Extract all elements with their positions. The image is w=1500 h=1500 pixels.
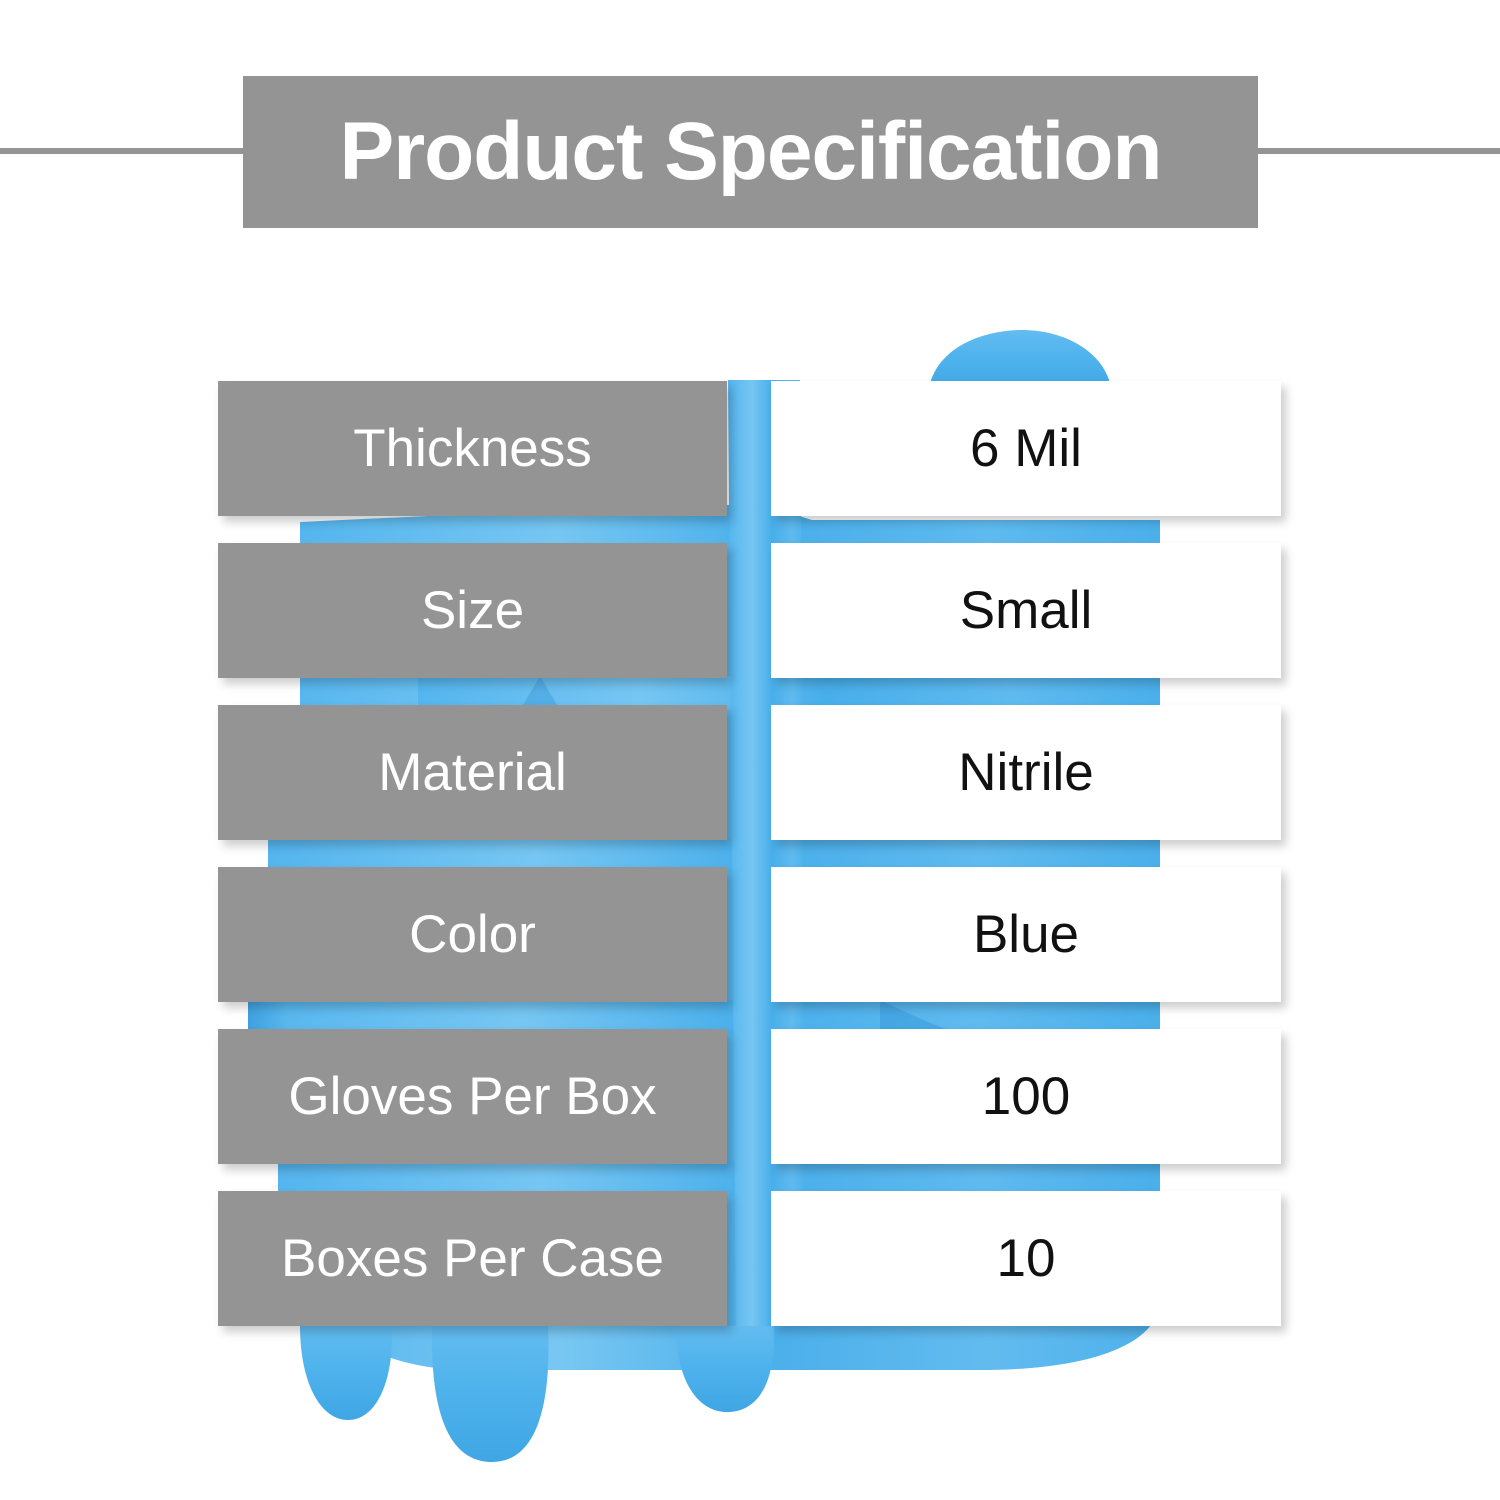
spec-label-cell: Color: [218, 867, 727, 1002]
spec-value-text: Blue: [973, 908, 1079, 961]
spec-value-cell: 100: [771, 1029, 1281, 1164]
spec-label-cell: Size: [218, 543, 727, 678]
spec-value-cell: 6 Mil: [771, 381, 1281, 516]
spec-value-text: Small: [960, 584, 1093, 637]
spec-label-text: Material: [378, 746, 567, 799]
spec-label-text: Gloves Per Box: [288, 1070, 656, 1123]
spec-value-text: 10: [997, 1232, 1056, 1285]
spec-value-text: 100: [982, 1070, 1070, 1123]
spec-value-cell: 10: [771, 1191, 1281, 1326]
spec-value-text: Nitrile: [958, 746, 1093, 799]
spec-label-text: Color: [409, 908, 536, 961]
spec-value-cell: Nitrile: [771, 705, 1281, 840]
spec-label-text: Thickness: [353, 422, 592, 475]
spec-label-text: Size: [421, 584, 524, 637]
table-row: Thickness 6 Mil: [0, 381, 1500, 516]
table-row: Size Small: [0, 543, 1500, 678]
spec-label-text: Boxes Per Case: [281, 1232, 664, 1285]
table-row: Color Blue: [0, 867, 1500, 1002]
table-row: Gloves Per Box 100: [0, 1029, 1500, 1164]
spec-label-cell: Boxes Per Case: [218, 1191, 727, 1326]
specification-table: Thickness 6 Mil Size Small Material Nitr…: [0, 0, 1500, 1500]
table-row: Material Nitrile: [0, 705, 1500, 840]
product-specification-infographic: Product Specification: [0, 0, 1500, 1500]
spec-value-cell: Blue: [771, 867, 1281, 1002]
spec-label-cell: Material: [218, 705, 727, 840]
spec-value-cell: Small: [771, 543, 1281, 678]
table-row: Boxes Per Case 10: [0, 1191, 1500, 1326]
spec-value-text: 6 Mil: [970, 422, 1082, 475]
spec-label-cell: Thickness: [218, 381, 727, 516]
spec-label-cell: Gloves Per Box: [218, 1029, 727, 1164]
